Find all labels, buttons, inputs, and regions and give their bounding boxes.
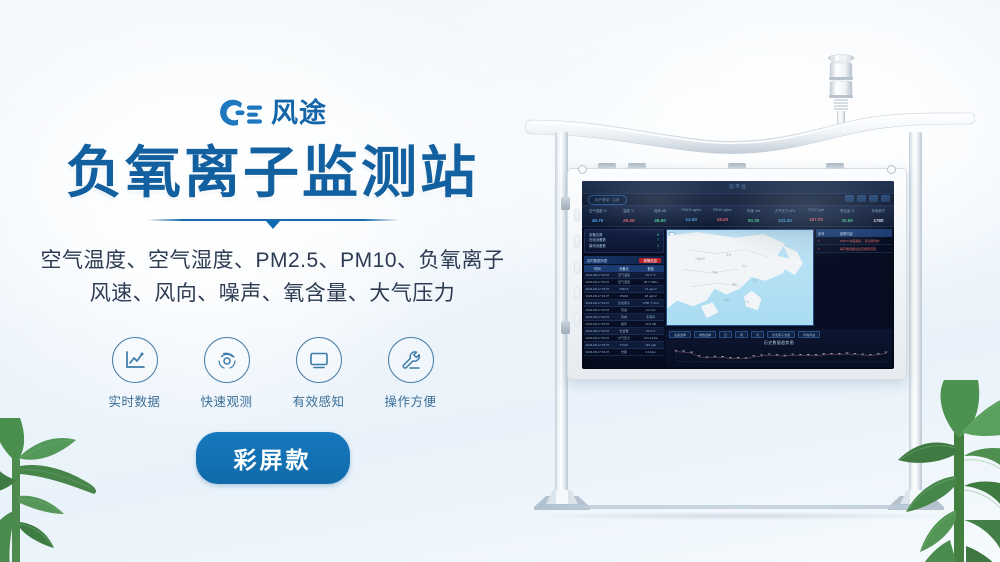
color-screen-badge[interactable]: 彩屏款 bbox=[196, 432, 350, 484]
feature-label: 实时数据 bbox=[108, 391, 160, 410]
wrench-icon bbox=[399, 348, 423, 372]
table-cell: 2023-08-17 09:37 bbox=[584, 315, 611, 319]
svg-text:04:00: 04:00 bbox=[702, 361, 708, 363]
metric-label: 温度 ℃ bbox=[613, 208, 644, 213]
dashboard-title: 云平台 bbox=[729, 183, 747, 190]
table-cell: 101.2 kPa bbox=[637, 336, 664, 340]
monitor-display-icon bbox=[307, 348, 331, 372]
subtitle: 空气温度、空气湿度、PM2.5、PM10、负氧离子 风速、风向、噪声、氧含量、大… bbox=[40, 245, 504, 310]
alert-column-header: 报警内容 bbox=[840, 231, 853, 236]
table-column-headers: 时间设备名数值 bbox=[584, 265, 664, 272]
feature-list: 实时数据 快速观测 bbox=[106, 337, 440, 410]
metric-value: 45.70 bbox=[582, 218, 613, 223]
vent-slot bbox=[574, 261, 580, 274]
table-row[interactable]: 2023-08-17 09:37空气湿度45.7 %RH bbox=[584, 279, 664, 286]
metric-card: TVOC ppb187.00 bbox=[800, 206, 831, 226]
metric-label: 大气压力 kPa bbox=[769, 208, 800, 213]
table-cell: 风速 bbox=[611, 308, 638, 312]
table-row[interactable]: 2023-08-17 09:37风向东南风 bbox=[584, 314, 664, 321]
brand-logo: 风途 bbox=[218, 96, 327, 130]
page-title: 负氧离子监测站 bbox=[66, 143, 479, 203]
alert-icon[interactable] bbox=[881, 195, 890, 202]
left-text-panel: 风途 负氧离子监测站 空气温度、空气湿度、PM2.5、PM10、负氧离子 风速、… bbox=[0, 0, 545, 562]
product-kiosk: 云平台 用户登录 / 注册 空气湿度 %45.70温度 ℃26.30噪声 dB4… bbox=[505, 0, 1000, 562]
chart-control[interactable]: 风向风速 bbox=[798, 331, 820, 338]
svg-text:20:00: 20:00 bbox=[827, 361, 833, 363]
table-cell: PM2.5 bbox=[611, 287, 638, 291]
metric-card: 噪声 dB49.60 bbox=[644, 206, 675, 226]
metric-card: 温度 ℃26.30 bbox=[613, 206, 644, 226]
feature-label: 有效感知 bbox=[292, 391, 344, 410]
table-cell: 2023-08-17 09:37 bbox=[584, 343, 611, 347]
svg-text:01:00: 01:00 bbox=[679, 361, 685, 363]
metric-label: PM2.5 ug/m³ bbox=[676, 208, 707, 212]
metric-value: 26.30 bbox=[613, 218, 644, 223]
metric-value: 20.90 bbox=[832, 218, 863, 223]
grid-icon[interactable] bbox=[845, 195, 854, 202]
svg-text:19:00: 19:00 bbox=[819, 361, 825, 363]
title-divider bbox=[147, 215, 399, 229]
svg-text:11:00: 11:00 bbox=[757, 361, 763, 363]
svg-text:西安: 西安 bbox=[713, 270, 719, 274]
chart-control[interactable]: 设备选择 bbox=[669, 331, 691, 338]
svg-text:02:00: 02:00 bbox=[687, 361, 693, 363]
display-housing: 云平台 用户登录 / 注册 空气湿度 %45.70温度 ℃26.30噪声 dB4… bbox=[567, 168, 907, 380]
table-cell: 18 ug/m³ bbox=[637, 294, 664, 298]
housing-tab bbox=[826, 163, 844, 169]
metric-label: 噪声 dB bbox=[644, 208, 675, 213]
chart-title: 历史数据趋势图 bbox=[666, 341, 892, 346]
table-cell: 空气湿度 bbox=[611, 280, 638, 284]
metric-card: 大气压力 kPa101.20 bbox=[769, 206, 800, 226]
table-cell: 26.3 ℃ bbox=[637, 273, 664, 277]
table-cell: 13 ug/m³ bbox=[637, 287, 664, 291]
svg-text:06:00: 06:00 bbox=[718, 361, 724, 363]
table-column-header: 数值 bbox=[637, 266, 664, 271]
table-row[interactable]: 2023-08-17 09:37风速0.3 m/s bbox=[584, 307, 664, 314]
realtime-table-header: 实时数据列表 报警信息 bbox=[584, 256, 664, 264]
feature-icon-circle bbox=[204, 337, 250, 383]
device-stat-row: 离线设备数1 bbox=[589, 244, 659, 249]
table-row[interactable]: 2023-08-17 09:37负氧离子1780 个/cm³ bbox=[584, 300, 664, 307]
table-cell: 光照 bbox=[611, 350, 638, 354]
feature-item-effective-sensing[interactable]: 有效感知 bbox=[290, 337, 348, 410]
svg-text:08:00: 08:00 bbox=[733, 361, 739, 363]
vent-slot bbox=[574, 287, 580, 300]
svg-text:重庆: 重庆 bbox=[732, 282, 738, 286]
metric-label: 负氧离子 bbox=[863, 208, 894, 213]
brand-name: 风途 bbox=[271, 98, 327, 128]
metric-label: TVOC ppb bbox=[800, 208, 831, 212]
chart-control[interactable]: 月 bbox=[751, 331, 764, 338]
table-cell: 2023-08-17 09:37 bbox=[584, 287, 611, 291]
svg-text:26:00: 26:00 bbox=[874, 361, 880, 363]
map-icon[interactable] bbox=[869, 195, 878, 202]
mount-ring bbox=[578, 165, 587, 174]
table-cell: 2023-08-17 09:37 bbox=[584, 280, 611, 284]
svg-text:24:00: 24:00 bbox=[858, 361, 864, 363]
metric-card: 空气湿度 %45.70 bbox=[582, 206, 613, 226]
metric-label: PM10 ug/m³ bbox=[707, 208, 738, 212]
base-plate-left bbox=[534, 490, 590, 510]
chart-plot: 00:0001:0002:0003:0004:0005:0006:0007:00… bbox=[668, 349, 890, 365]
svg-text:05:00: 05:00 bbox=[710, 361, 716, 363]
svg-text:14:00: 14:00 bbox=[780, 361, 786, 363]
table-cell: 2023-08-17 09:37 bbox=[584, 329, 611, 333]
line-chart-icon bbox=[123, 348, 147, 372]
svg-text:北京: 北京 bbox=[742, 264, 748, 268]
table-row[interactable]: 2023-08-17 09:37大气压力101.2 kPa bbox=[584, 335, 664, 342]
alert-cell: 2 bbox=[818, 247, 840, 251]
metric-value: 13.00 bbox=[676, 217, 707, 222]
chart-control[interactable]: 负氧离子浓度 bbox=[767, 331, 795, 338]
mount-ring bbox=[887, 165, 896, 174]
table-title: 实时数据列表 bbox=[587, 258, 607, 263]
chart-control[interactable]: 周 bbox=[735, 331, 748, 338]
alarm-badge[interactable]: 报警信息 bbox=[639, 258, 661, 263]
metric-value: 18.00 bbox=[707, 217, 738, 222]
alert-cell: 1 bbox=[818, 239, 840, 243]
table-cell: 2.1 klux bbox=[637, 350, 664, 354]
feature-icon-circle bbox=[388, 337, 434, 383]
alert-body: 1PM2.5 浓度超标，请注意防护2噪声数值超出设定阈值范围 bbox=[816, 237, 892, 253]
alert-cell: PM2.5 浓度超标，请注意防护 bbox=[840, 239, 880, 243]
svg-text:03:00: 03:00 bbox=[695, 361, 701, 363]
alert-cell: 噪声数值超出设定阈值范围 bbox=[840, 247, 876, 251]
vent-slot bbox=[574, 209, 580, 222]
svg-text:蒙古: 蒙古 bbox=[726, 252, 732, 256]
metric-label: 空气湿度 % bbox=[582, 208, 613, 213]
table-column-header: 时间 bbox=[584, 266, 611, 271]
map-landmass: 乌鲁木齐 蒙古 西安 北京 重庆 上海 昆明 广州 bbox=[667, 230, 813, 325]
hinge-bracket bbox=[561, 321, 570, 334]
radar-sensor-icon bbox=[215, 348, 239, 372]
feature-item-realtime-data[interactable]: 实时数据 bbox=[106, 337, 164, 410]
china-region-map[interactable]: 乌鲁木齐 蒙古 西安 北京 重庆 上海 昆明 广州 bbox=[666, 229, 814, 326]
subtitle-line-1: 空气温度、空气湿度、PM2.5、PM10、负氧离子 bbox=[40, 245, 504, 278]
metric-value: 187.00 bbox=[800, 217, 831, 222]
metric-value: 49.60 bbox=[644, 218, 675, 223]
table-cell: 2023-08-17 09:37 bbox=[584, 336, 611, 340]
table-row[interactable]: 2023-08-17 09:37PM2.513 ug/m³ bbox=[584, 286, 664, 293]
subtitle-line-2: 风速、风向、噪声、氧含量、大气压力 bbox=[40, 278, 504, 311]
table-cell: 大气压力 bbox=[611, 336, 638, 340]
table-row[interactable]: 2023-08-17 09:37TVOC187 ppb bbox=[584, 342, 664, 349]
svg-text:09:00: 09:00 bbox=[741, 361, 747, 363]
promo-banner: 风途 负氧离子监测站 空气温度、空气湿度、PM2.5、PM10、负氧离子 风速、… bbox=[0, 0, 1000, 562]
alert-panel: 序号报警内容 1PM2.5 浓度超标，请注意防护2噪声数值超出设定阈值范围 bbox=[816, 229, 892, 326]
stat-label: 离线设备数 bbox=[589, 244, 606, 249]
table-cell: 2023-08-17 09:37 bbox=[584, 273, 611, 277]
metric-label: 氧含量 % bbox=[832, 208, 863, 213]
dashboard-left-column: 设备总数8在线设备数7离线设备数1 实时数据列表 报警信息 时间设备名数值 20… bbox=[584, 229, 664, 367]
feature-label: 快速观测 bbox=[200, 391, 252, 410]
table-cell: 2023-08-17 09:37 bbox=[584, 301, 611, 305]
svg-text:22:00: 22:00 bbox=[842, 361, 848, 363]
table-cell: 1780 个/cm³ bbox=[637, 301, 664, 305]
svg-text:0: 0 bbox=[674, 361, 675, 362]
svg-text:75: 75 bbox=[673, 353, 675, 354]
table-cell: 东南风 bbox=[637, 315, 664, 319]
table-column-header: 设备名 bbox=[611, 266, 638, 271]
trend-line-chart: 00:0001:0002:0003:0004:0005:0006:0007:00… bbox=[668, 349, 890, 365]
svg-text:13:00: 13:00 bbox=[772, 361, 778, 363]
table-cell: 20.9 % bbox=[637, 329, 664, 333]
stat-value: 1 bbox=[657, 244, 659, 249]
table-body: 2023-08-17 09:37空气温度26.3 ℃2023-08-17 09:… bbox=[584, 272, 664, 356]
table-cell: 2023-08-17 09:37 bbox=[584, 350, 611, 354]
svg-text:18:00: 18:00 bbox=[811, 361, 817, 363]
metric-value: 1780 bbox=[863, 218, 894, 223]
metric-value: 00.30 bbox=[738, 218, 769, 223]
table-cell: 噪声 bbox=[611, 322, 638, 326]
table-row[interactable]: 2023-08-17 09:37空气温度26.3 ℃ bbox=[584, 272, 664, 279]
svg-text:昆明: 昆明 bbox=[724, 298, 730, 302]
metric-card: 负氧离子1780 bbox=[863, 206, 894, 226]
feature-icon-circle bbox=[112, 337, 158, 383]
table-cell: 2023-08-17 09:37 bbox=[584, 294, 611, 298]
divider-triangle-icon bbox=[266, 221, 280, 229]
housing-tab bbox=[598, 163, 616, 169]
table-row[interactable]: 2023-08-17 09:37光照2.1 klux bbox=[584, 349, 664, 356]
table-cell: 空气温度 bbox=[611, 273, 638, 277]
svg-text:上海: 上海 bbox=[752, 278, 758, 282]
metric-label: 风速 m/s bbox=[738, 208, 769, 213]
login-button[interactable]: 用户登录 / 注册 bbox=[588, 195, 627, 205]
housing-tab bbox=[628, 163, 646, 169]
table-cell: PM10 bbox=[611, 294, 638, 298]
svg-text:21:00: 21:00 bbox=[835, 361, 841, 363]
dashboard-screen[interactable]: 云平台 用户登录 / 注册 空气湿度 %45.70温度 ℃26.30噪声 dB4… bbox=[582, 181, 894, 369]
alert-header: 序号报警内容 bbox=[816, 229, 892, 237]
svg-text:乌鲁木齐: 乌鲁木齐 bbox=[695, 256, 706, 260]
svg-text:12:00: 12:00 bbox=[765, 361, 771, 363]
svg-text:17:00: 17:00 bbox=[803, 361, 809, 363]
table-cell: 负氧离子 bbox=[611, 301, 638, 305]
svg-text:27:00: 27:00 bbox=[881, 361, 887, 363]
fengtu-wind-g-icon bbox=[218, 98, 264, 128]
feature-item-easy-operation[interactable]: 操作方便 bbox=[382, 337, 440, 410]
alert-row[interactable]: 1PM2.5 浓度超标，请注意防护 bbox=[816, 237, 892, 245]
dashboard-toolbar[interactable] bbox=[845, 195, 890, 202]
svg-text:100: 100 bbox=[671, 350, 675, 351]
svg-text:广州: 广州 bbox=[744, 299, 750, 303]
wave-canopy bbox=[525, 102, 975, 158]
table-row[interactable]: 2023-08-17 09:37氧含量20.9 % bbox=[584, 328, 664, 335]
table-cell: 187 ppb bbox=[637, 343, 664, 347]
table-cell: 0.3 m/s bbox=[637, 308, 664, 312]
svg-text:10:00: 10:00 bbox=[749, 361, 755, 363]
table-cell: 风向 bbox=[611, 315, 638, 319]
chart-controls[interactable]: 设备选择参数选择日周月负氧离子浓度风向风速 bbox=[666, 329, 892, 340]
vent-slot bbox=[574, 313, 580, 326]
metric-card: 风速 m/s00.30 bbox=[738, 206, 769, 226]
metric-card: 氧含量 %20.90 bbox=[832, 206, 863, 226]
feature-icon-circle bbox=[296, 337, 342, 383]
table-cell: TVOC bbox=[611, 343, 638, 347]
table-cell: 49.6 dB bbox=[637, 322, 664, 326]
svg-text:23:00: 23:00 bbox=[850, 361, 856, 363]
housing-tab bbox=[728, 163, 746, 169]
trend-chart-panel[interactable]: 设备选择参数选择日周月负氧离子浓度风向风速 历史数据趋势图 00:0001:00… bbox=[666, 329, 892, 367]
metric-card: PM2.5 ug/m³13.00 bbox=[676, 206, 707, 226]
svg-text:50: 50 bbox=[673, 356, 675, 357]
chart-icon[interactable] bbox=[857, 195, 866, 202]
alert-column-header: 序号 bbox=[818, 231, 840, 236]
svg-text:25: 25 bbox=[673, 358, 675, 359]
metric-value: 101.20 bbox=[769, 218, 800, 223]
table-cell: 氧含量 bbox=[611, 329, 638, 333]
table-cell: 2023-08-17 09:37 bbox=[584, 308, 611, 312]
table-row[interactable]: 2023-08-17 09:37PM1018 ug/m³ bbox=[584, 293, 664, 300]
device-stats-box: 设备总数8在线设备数7离线设备数1 bbox=[584, 229, 664, 253]
support-pole-right bbox=[909, 132, 922, 498]
base-plate-right bbox=[888, 490, 944, 510]
chart-control[interactable]: 参数选择 bbox=[694, 331, 716, 338]
feature-item-fast-observation[interactable]: 快速观测 bbox=[198, 337, 256, 410]
svg-text:16:00: 16:00 bbox=[796, 361, 802, 363]
svg-text:07:00: 07:00 bbox=[726, 361, 732, 363]
metric-strip: 空气湿度 %45.70温度 ℃26.30噪声 dB49.60PM2.5 ug/m… bbox=[582, 205, 894, 227]
alert-row[interactable]: 2噪声数值超出设定阈值范围 bbox=[816, 245, 892, 253]
feature-label: 操作方便 bbox=[384, 391, 436, 410]
table-cell: 45.7 %RH bbox=[637, 280, 664, 284]
chart-control[interactable]: 日 bbox=[719, 331, 732, 338]
vent-slot bbox=[574, 235, 580, 248]
svg-text:15:00: 15:00 bbox=[788, 361, 794, 363]
table-cell: 2023-08-17 09:37 bbox=[584, 322, 611, 326]
table-row[interactable]: 2023-08-17 09:37噪声49.6 dB bbox=[584, 321, 664, 328]
metric-card: PM10 ug/m³18.00 bbox=[707, 206, 738, 226]
svg-text:25:00: 25:00 bbox=[866, 361, 872, 363]
hinge-bracket bbox=[561, 197, 570, 210]
